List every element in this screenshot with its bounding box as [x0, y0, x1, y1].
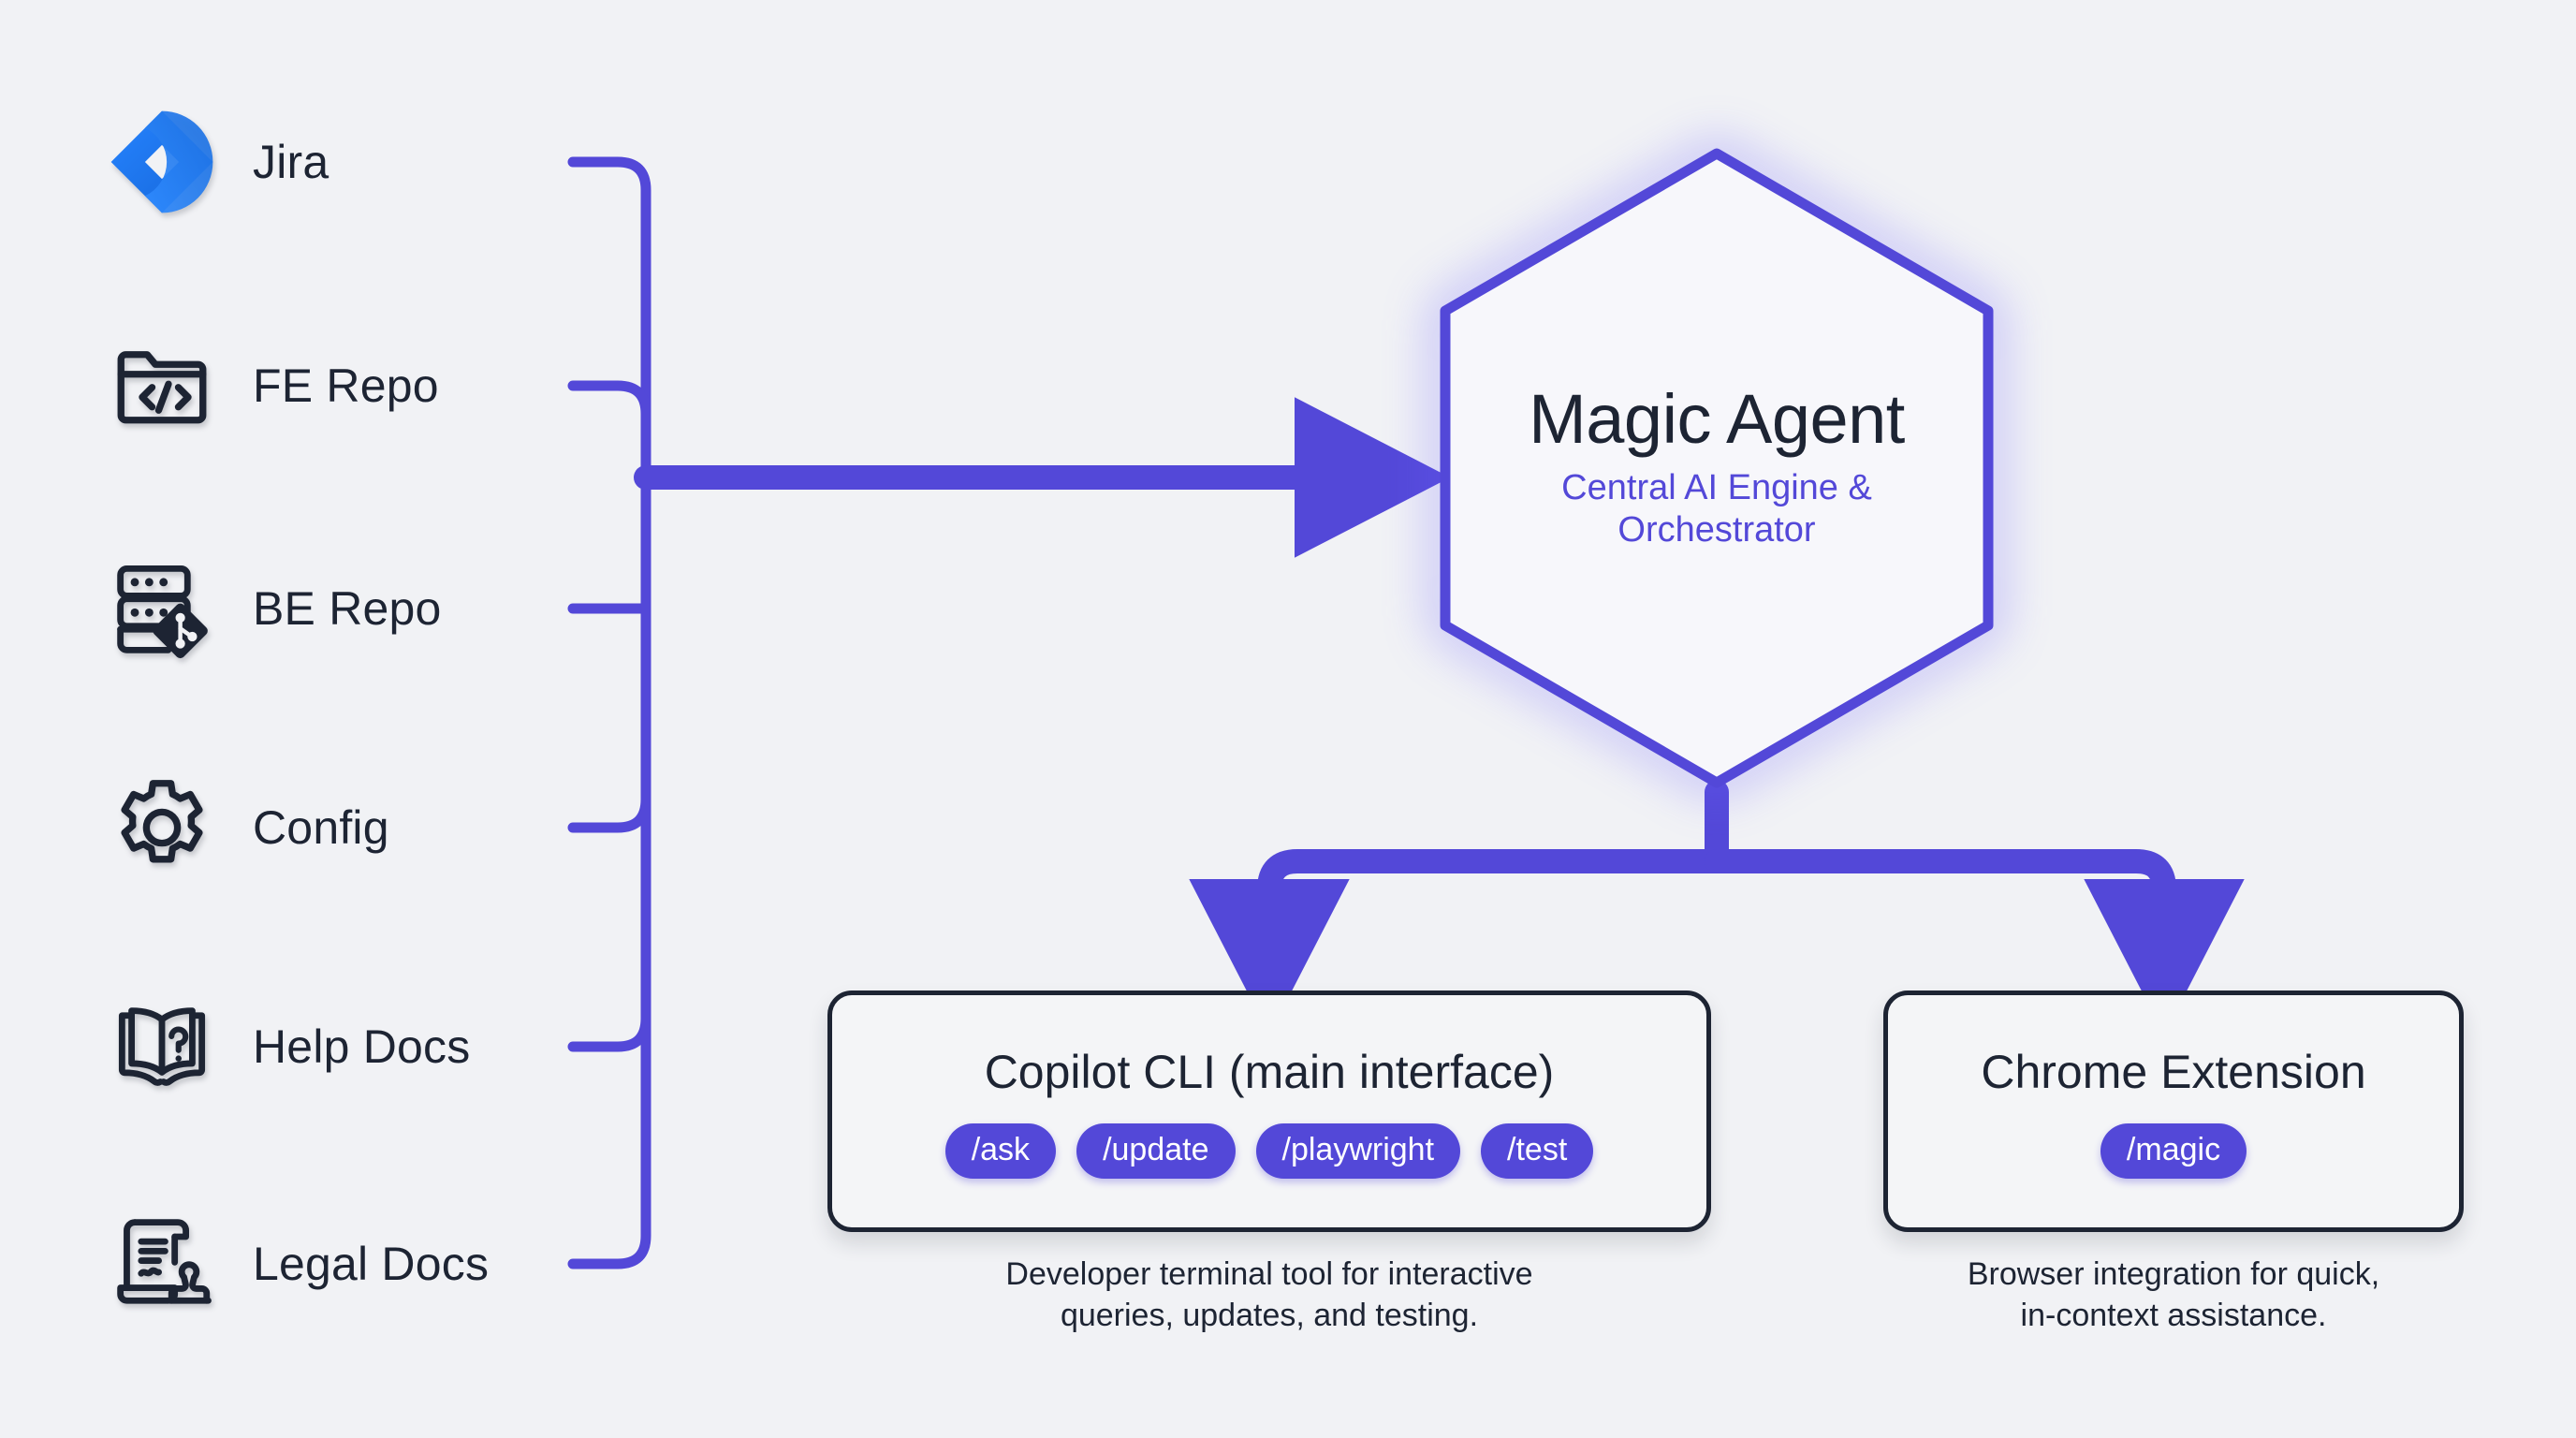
gear-icon: [101, 767, 223, 888]
wire-hub-to-extension: [1717, 861, 2164, 957]
command-pill-magic[interactable]: /magic: [2100, 1123, 2247, 1179]
jira-logo-icon: [101, 101, 223, 223]
hub-title: Magic Agent: [1529, 385, 1905, 454]
command-pill-row: /magic: [2100, 1123, 2247, 1179]
source-label: Help Docs: [253, 1020, 470, 1074]
source-label: FE Repo: [253, 359, 439, 413]
output-node-chrome-extension[interactable]: Chrome Extension /magic: [1883, 990, 2464, 1232]
diagram-canvas: Jira FE Repo: [0, 0, 2576, 1438]
output-node-copilot-cli[interactable]: Copilot CLI (main interface) /ask /updat…: [827, 990, 1711, 1232]
command-pill-playwright[interactable]: /playwright: [1256, 1123, 1461, 1179]
magic-agent-hub[interactable]: Magic Agent Central AI Engine & Orchestr…: [1427, 140, 2007, 796]
source-item-legal-docs[interactable]: Legal Docs: [101, 1203, 489, 1325]
source-item-help-docs[interactable]: Help Docs: [101, 986, 470, 1108]
open-book-question-icon: [101, 986, 223, 1108]
command-pill-row: /ask /update /playwright /test: [945, 1123, 1594, 1179]
command-pill-update[interactable]: /update: [1076, 1123, 1235, 1179]
document-stamp-icon: [101, 1203, 223, 1325]
source-label: Jira: [253, 135, 329, 189]
command-pill-test[interactable]: /test: [1481, 1123, 1593, 1179]
source-item-be-repo[interactable]: BE Repo: [101, 548, 442, 669]
source-item-fe-repo[interactable]: FE Repo: [101, 325, 439, 447]
source-label: Config: [253, 800, 389, 855]
node-caption-chrome-extension: Browser integration for quick, in-contex…: [1883, 1255, 2464, 1336]
source-item-jira[interactable]: Jira: [101, 101, 329, 223]
hub-text-block: Magic Agent Central AI Engine & Orchestr…: [1427, 140, 2007, 796]
server-git-icon: [101, 548, 223, 669]
node-caption-copilot-cli: Developer terminal tool for interactive …: [827, 1255, 1711, 1336]
source-label: BE Repo: [253, 581, 442, 636]
wire-hub-to-cli: [1269, 861, 1717, 957]
folder-code-icon: [101, 325, 223, 447]
wire-config: [573, 487, 646, 828]
wire-help-docs: [573, 487, 646, 1047]
command-pill-ask[interactable]: /ask: [945, 1123, 1056, 1179]
hub-subtitle: Central AI Engine & Orchestrator: [1520, 467, 1913, 551]
node-title: Copilot CLI (main interface): [985, 1045, 1555, 1099]
node-title: Chrome Extension: [1981, 1045, 2365, 1099]
source-item-config[interactable]: Config: [101, 767, 389, 888]
wire-jira: [573, 162, 646, 468]
wire-fe-repo: [573, 386, 646, 468]
source-label: Legal Docs: [253, 1237, 489, 1291]
